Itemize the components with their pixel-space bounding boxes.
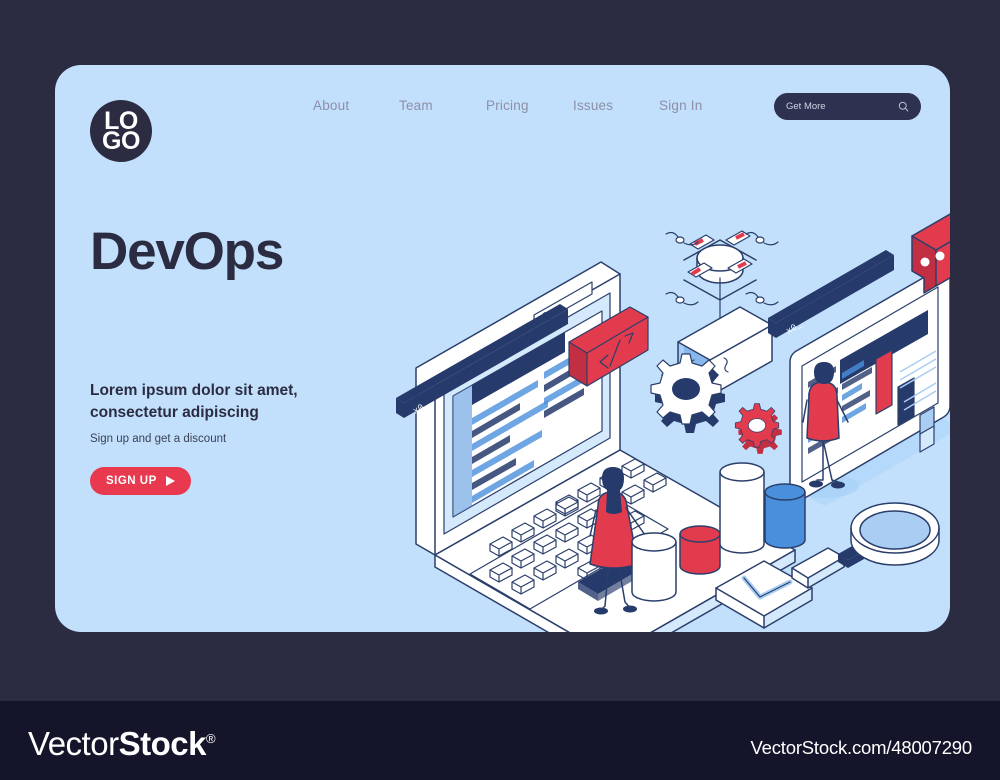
nav-link-about[interactable]: About [313,98,399,113]
speech-bubble [912,206,950,293]
white-cylinder [632,533,676,601]
brand-light: Vector [28,725,119,762]
landing-page-card: LO GO About Team Pricing Issues Sign In … [55,65,950,632]
devops-isometric-illustration: .ln { stroke:#2b3f6b; stroke-width:1.5; … [320,150,950,632]
red-cylinder [680,526,720,574]
nav-links: About Team Pricing Issues Sign In [313,98,745,113]
logo-line-2: GO [102,131,140,152]
vectorstock-logo: VectorStock® [28,725,215,763]
registered-mark: ® [206,731,215,746]
sign-up-button-label: SIGN UP [106,475,157,487]
sign-up-button[interactable]: SIGN UP [90,467,191,495]
nav-link-sign-in[interactable]: Sign In [659,98,745,113]
play-triangle-icon [166,476,175,486]
white-gear [651,354,725,433]
blue-cylinder [765,484,805,548]
search-input-value: Get More [786,101,898,112]
illustration-svg: .ln { stroke:#2b3f6b; stroke-width:1.5; … [320,150,950,632]
red-gear [735,404,782,454]
hero-subtitle: Lorem ipsum dolor sit amet, consectetur … [90,380,305,424]
nav-link-issues[interactable]: Issues [573,98,659,113]
logo-mark[interactable]: LO GO [90,100,152,162]
nav-link-team[interactable]: Team [399,98,486,113]
magnifying-glass [792,503,939,588]
search-icon[interactable] [898,101,909,112]
nav-link-pricing[interactable]: Pricing [486,98,573,113]
search-input[interactable]: Get More [774,93,921,120]
tall-white-cylinder [720,463,764,553]
vectorstock-url: VectorStock.com/48007290 [751,737,972,759]
footer-watermark-bar: VectorStock® VectorStock.com/48007290 [0,700,1000,780]
brand-bold: Stock [119,725,206,762]
